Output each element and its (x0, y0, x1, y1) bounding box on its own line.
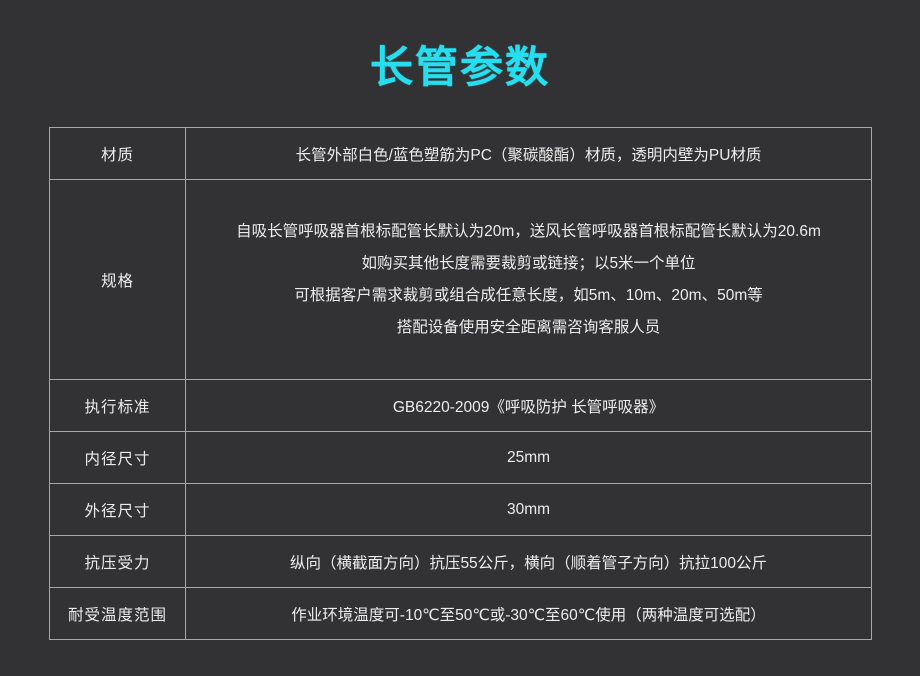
row-value-specification: 自吸长管呼吸器首根标配管长默认为20m，送风长管呼吸器首根标配管长默认为20.6… (186, 180, 872, 380)
row-label-inner-diameter: 内径尺寸 (50, 432, 186, 484)
specification-line: 搭配设备使用安全距离需咨询客服人员 (192, 312, 865, 344)
row-label-specification: 规格 (50, 180, 186, 380)
specification-table: 材质 长管外部白色/蓝色塑筋为PC（聚碳酸酯）材质，透明内壁为PU材质 规格 自… (49, 127, 872, 640)
specification-line: 自吸长管呼吸器首根标配管长默认为20m，送风长管呼吸器首根标配管长默认为20.6… (192, 216, 865, 248)
table-row: 耐受温度范围 作业环境温度可-10℃至50℃或-30℃至60℃使用（两种温度可选… (50, 588, 872, 640)
row-value-outer-diameter: 30mm (186, 484, 872, 536)
specification-line: 如购买其他长度需要裁剪或链接；以5米一个单位 (192, 248, 865, 280)
row-value-inner-diameter: 25mm (186, 432, 872, 484)
product-spec-page: 长管参数 材质 长管外部白色/蓝色塑筋为PC（聚碳酸酯）材质，透明内壁为PU材质… (0, 0, 920, 676)
specification-line: 可根据客户需求裁剪或组合成任意长度，如5m、10m、20m、50m等 (192, 280, 865, 312)
table-row: 材质 长管外部白色/蓝色塑筋为PC（聚碳酸酯）材质，透明内壁为PU材质 (50, 128, 872, 180)
row-label-outer-diameter: 外径尺寸 (50, 484, 186, 536)
row-label-standard: 执行标准 (50, 380, 186, 432)
table-row: 外径尺寸 30mm (50, 484, 872, 536)
row-value-pressure-resistance: 纵向（横截面方向）抗压55公斤，横向（顺着管子方向）抗拉100公斤 (186, 536, 872, 588)
table-row: 执行标准 GB6220-2009《呼吸防护 长管呼吸器》 (50, 380, 872, 432)
row-value-material: 长管外部白色/蓝色塑筋为PC（聚碳酸酯）材质，透明内壁为PU材质 (186, 128, 872, 180)
row-value-temperature-range: 作业环境温度可-10℃至50℃或-30℃至60℃使用（两种温度可选配） (186, 588, 872, 640)
specification-lines: 自吸长管呼吸器首根标配管长默认为20m，送风长管呼吸器首根标配管长默认为20.6… (192, 214, 865, 346)
row-label-pressure-resistance: 抗压受力 (50, 536, 186, 588)
table-row: 内径尺寸 25mm (50, 432, 872, 484)
page-title: 长管参数 (0, 42, 920, 94)
row-label-material: 材质 (50, 128, 186, 180)
table-row: 规格 自吸长管呼吸器首根标配管长默认为20m，送风长管呼吸器首根标配管长默认为2… (50, 180, 872, 380)
row-value-standard: GB6220-2009《呼吸防护 长管呼吸器》 (186, 380, 872, 432)
table-row: 抗压受力 纵向（横截面方向）抗压55公斤，横向（顺着管子方向）抗拉100公斤 (50, 536, 872, 588)
specification-table-body: 材质 长管外部白色/蓝色塑筋为PC（聚碳酸酯）材质，透明内壁为PU材质 规格 自… (50, 128, 872, 640)
row-label-temperature-range: 耐受温度范围 (50, 588, 186, 640)
